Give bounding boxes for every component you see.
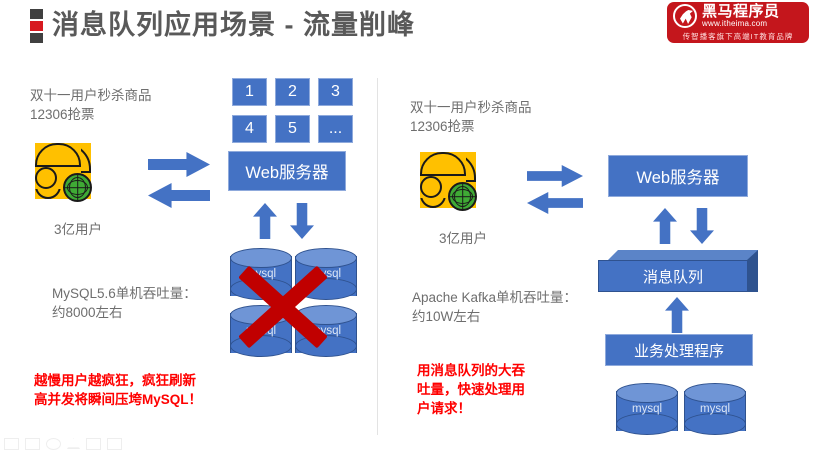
left-throughput-text: MySQL5.6单机吞吐量： 约8000左右 bbox=[52, 284, 197, 322]
message-queue-box: 消息队列 bbox=[598, 250, 758, 292]
wm-shape-6 bbox=[107, 438, 122, 450]
request-box-5: 5 bbox=[275, 115, 310, 143]
left-arrow-right-icon bbox=[148, 152, 210, 177]
right-users-icon bbox=[420, 152, 506, 228]
message-queue-label: 消息队列 bbox=[598, 260, 748, 292]
slide-canvas: 消息队列应用场景 - 流量削峰 黑马程序员 www.itheima.com 传智… bbox=[0, 0, 817, 449]
person-right-head bbox=[420, 176, 442, 198]
left-users-icon bbox=[35, 143, 121, 219]
globe-icon bbox=[63, 173, 92, 202]
logo-brand-name: 黑马程序员 bbox=[702, 4, 780, 19]
left-arrow-up-icon bbox=[253, 203, 277, 239]
wm-shape-3 bbox=[46, 438, 61, 450]
right-throughput-text: Apache Kafka单机吞吐量： 约10W左右 bbox=[412, 288, 577, 326]
right-scenario-text: 双十一用户秒杀商品 12306抢票 bbox=[410, 98, 532, 136]
horse-icon bbox=[673, 4, 697, 28]
left-scenario-text: 双十一用户秒杀商品 12306抢票 bbox=[30, 86, 152, 124]
right-web-server-box: Web服务器 bbox=[608, 155, 748, 197]
right-arrow-up-icon bbox=[653, 208, 677, 244]
right-db-1: mysql bbox=[616, 383, 678, 439]
square-dark-bottom bbox=[30, 33, 43, 43]
wm-shape-1 bbox=[4, 438, 19, 450]
business-processor-box: 业务处理程序 bbox=[605, 334, 753, 366]
page-title: 消息队列应用场景 - 流量削峰 bbox=[52, 6, 415, 44]
right-arrow-left-icon bbox=[527, 192, 583, 214]
logo-tagline: 传智播客旗下高端IT教育品牌 bbox=[667, 31, 809, 42]
wm-shape-2 bbox=[25, 438, 40, 450]
shape-toolbar-watermark bbox=[4, 438, 122, 450]
person-right-body bbox=[35, 143, 81, 167]
left-arrow-down-icon bbox=[290, 203, 314, 239]
right-benefit-text: 用消息队列的大吞 吐量，快速处理用 户请求！ bbox=[417, 361, 525, 418]
request-box-4: 4 bbox=[232, 115, 267, 143]
right-arrow-right-icon bbox=[527, 165, 583, 187]
square-red-middle bbox=[30, 21, 43, 31]
wm-shape-4 bbox=[67, 438, 80, 449]
three-squares-icon bbox=[30, 9, 43, 43]
square-dark-top bbox=[30, 9, 43, 19]
logo-text-block: 黑马程序员 www.itheima.com bbox=[702, 4, 780, 29]
request-box-more: ... bbox=[318, 115, 353, 143]
left-warning-text: 越慢用户越疯狂，疯狂刷新 高并发将瞬间压垮MySQL！ bbox=[34, 371, 202, 409]
person-right-body bbox=[420, 152, 466, 176]
red-cross-icon bbox=[234, 262, 332, 352]
brand-logo: 黑马程序员 www.itheima.com 传智播客旗下高端IT教育品牌 bbox=[667, 2, 809, 43]
panel-divider bbox=[377, 78, 378, 435]
logo-top-row: 黑马程序员 www.itheima.com bbox=[667, 2, 809, 30]
request-box-1: 1 bbox=[232, 78, 267, 106]
left-users-label: 3亿用户 bbox=[28, 218, 128, 238]
request-box-2: 2 bbox=[275, 78, 310, 106]
logo-url: www.itheima.com bbox=[702, 19, 780, 29]
right-db-2-label: mysql bbox=[684, 403, 746, 415]
globe-icon bbox=[448, 182, 477, 211]
person-right-head bbox=[35, 167, 57, 189]
right-arrow-down-icon bbox=[690, 208, 714, 244]
left-arrow-left-icon bbox=[148, 183, 210, 208]
right-db-1-label: mysql bbox=[616, 403, 678, 415]
right-db-2: mysql bbox=[684, 383, 746, 439]
left-web-server-box: Web服务器 bbox=[228, 151, 346, 191]
right-users-label: 3亿用户 bbox=[413, 227, 513, 247]
request-box-3: 3 bbox=[318, 78, 353, 106]
wm-shape-5 bbox=[86, 438, 101, 450]
right-arrow-up-2-icon bbox=[665, 297, 689, 333]
